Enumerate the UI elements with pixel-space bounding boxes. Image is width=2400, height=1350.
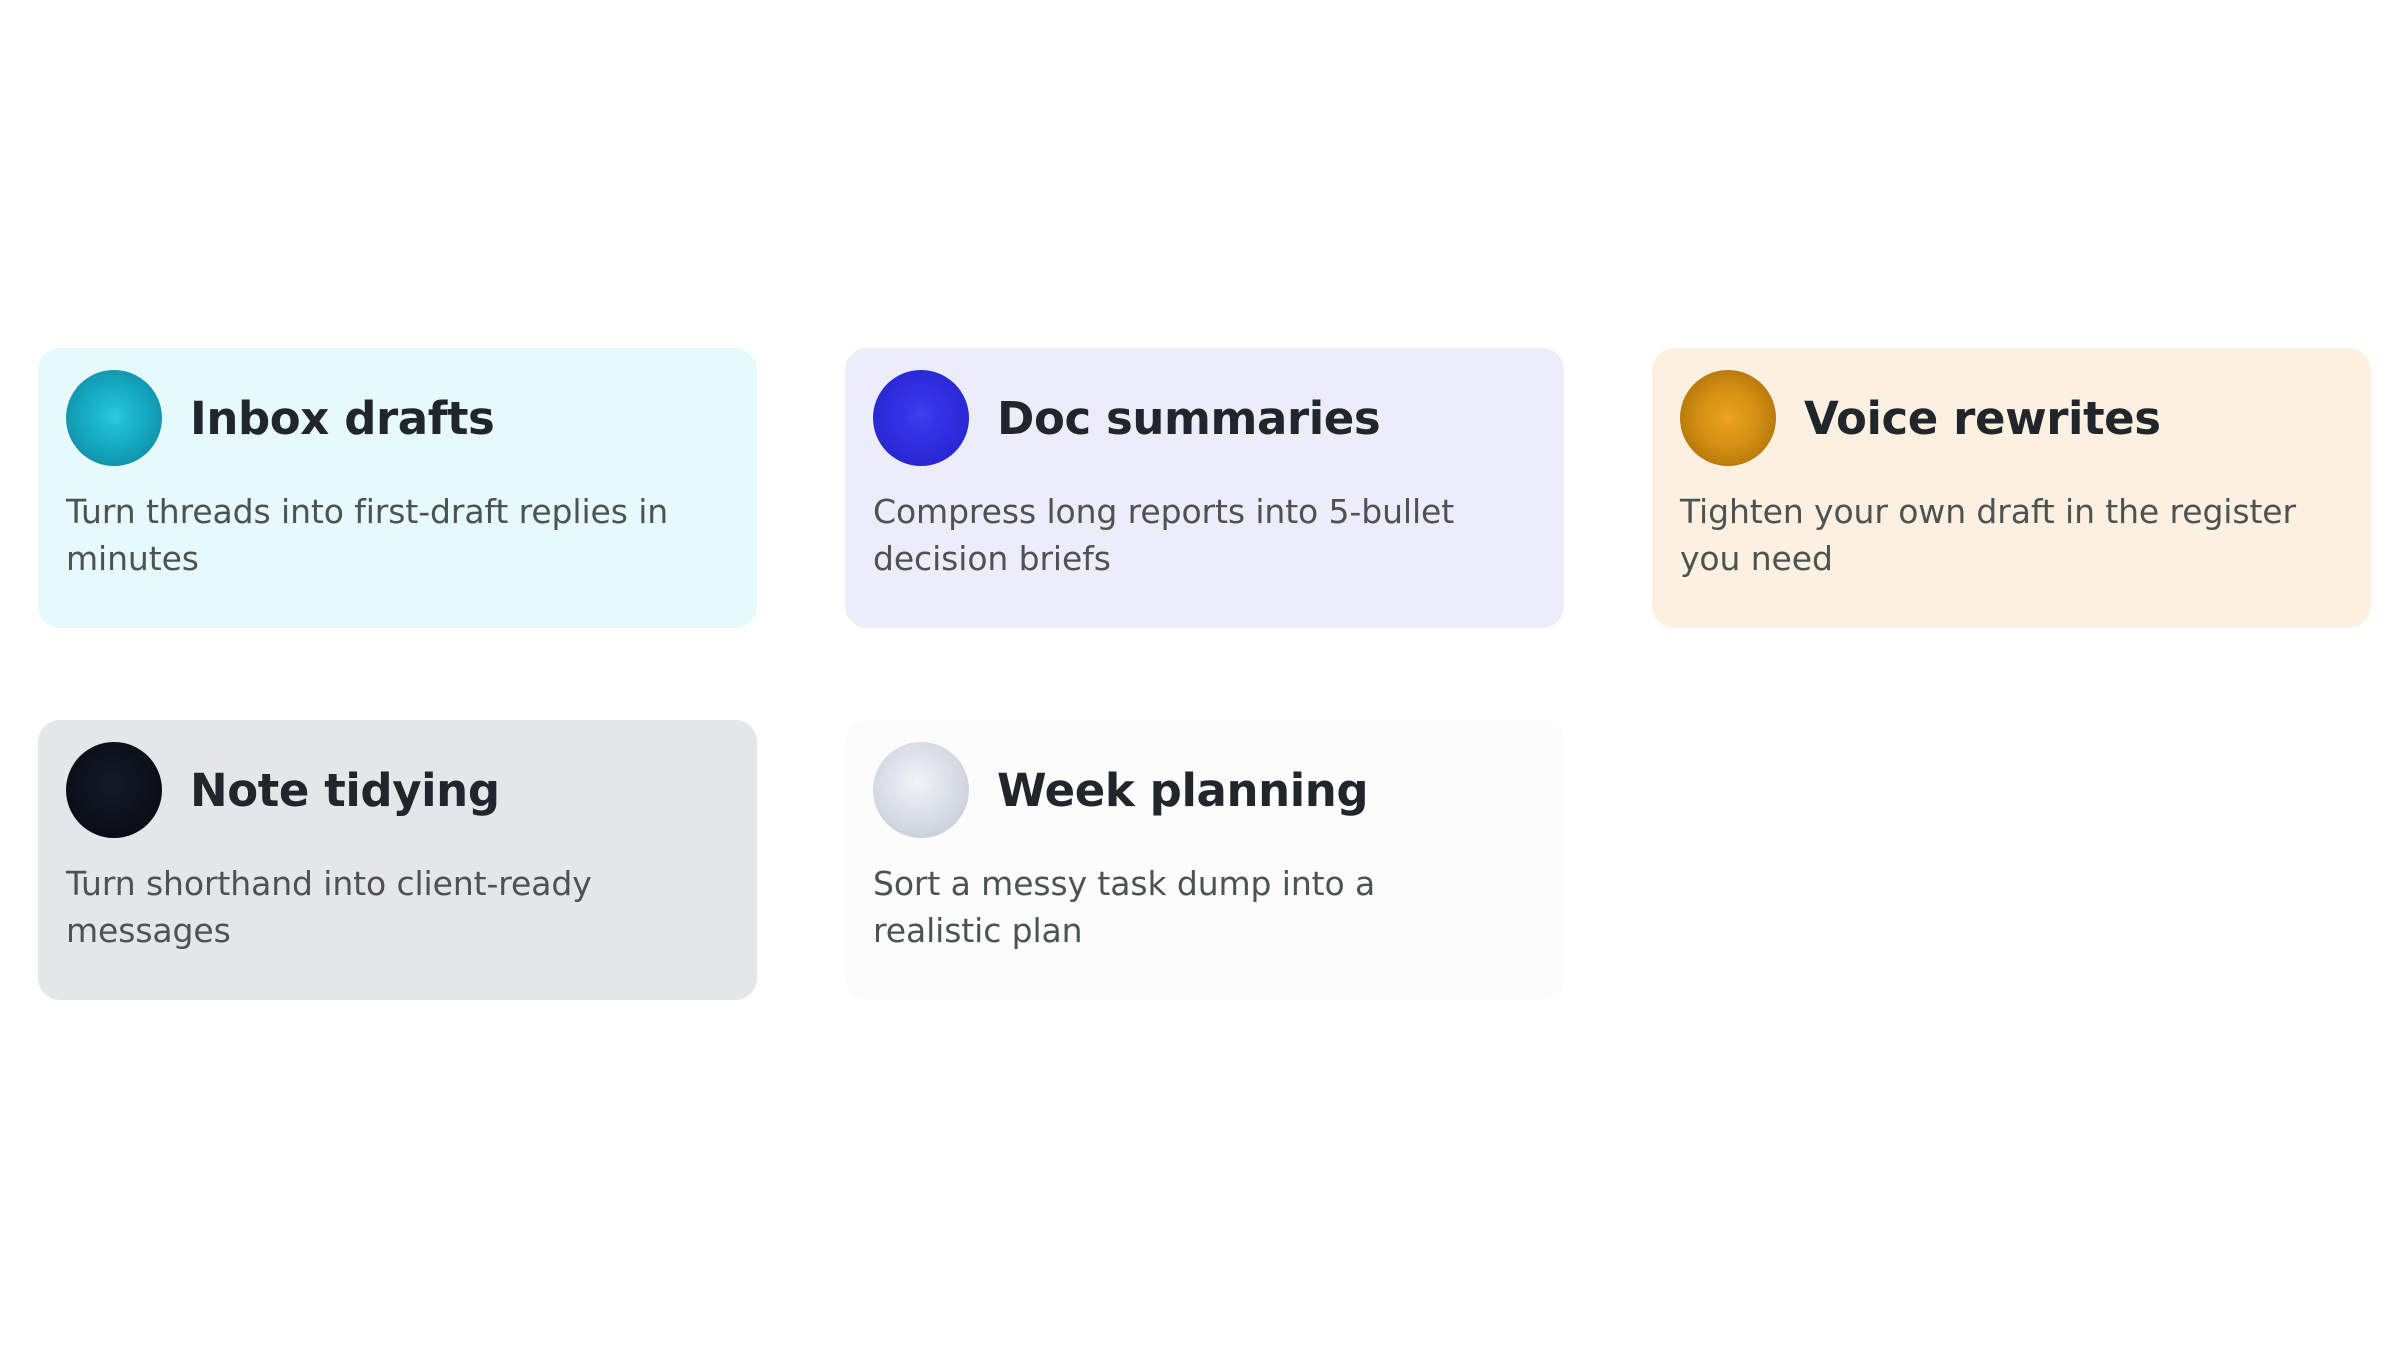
card-header: Voice rewrites xyxy=(1680,370,2161,466)
card-title: Voice rewrites xyxy=(1804,396,2161,441)
card-title: Inbox drafts xyxy=(190,396,494,441)
card-description: Turn shorthand into client-ready message… xyxy=(66,860,706,954)
card-title: Doc summaries xyxy=(997,396,1380,441)
sphere-icon xyxy=(1680,370,1776,466)
card-header: Note tidying xyxy=(66,742,500,838)
feature-card-note-tidying[interactable]: Note tidying Turn shorthand into client-… xyxy=(38,720,757,1000)
sphere-icon xyxy=(66,742,162,838)
sphere-icon xyxy=(873,370,969,466)
card-description: Compress long reports into 5-bullet deci… xyxy=(873,488,1513,582)
sphere-icon xyxy=(66,370,162,466)
card-description: Turn threads into first-draft replies in… xyxy=(66,488,706,582)
feature-card-voice-rewrites[interactable]: Voice rewrites Tighten your own draft in… xyxy=(1652,348,2371,628)
card-description: Tighten your own draft in the register y… xyxy=(1680,488,2320,582)
feature-card-doc-summaries[interactable]: Doc summaries Compress long reports into… xyxy=(845,348,1564,628)
feature-card-grid: Inbox drafts Turn threads into first-dra… xyxy=(38,348,2362,1000)
card-header: Week planning xyxy=(873,742,1368,838)
card-title: Week planning xyxy=(997,768,1368,813)
card-title: Note tidying xyxy=(190,768,500,813)
sphere-icon xyxy=(873,742,969,838)
card-header: Doc summaries xyxy=(873,370,1380,466)
card-header: Inbox drafts xyxy=(66,370,494,466)
feature-card-inbox-drafts[interactable]: Inbox drafts Turn threads into first-dra… xyxy=(38,348,757,628)
card-description: Sort a messy task dump into a realistic … xyxy=(873,860,1513,954)
feature-card-week-planning[interactable]: Week planning Sort a messy task dump int… xyxy=(845,720,1564,1000)
